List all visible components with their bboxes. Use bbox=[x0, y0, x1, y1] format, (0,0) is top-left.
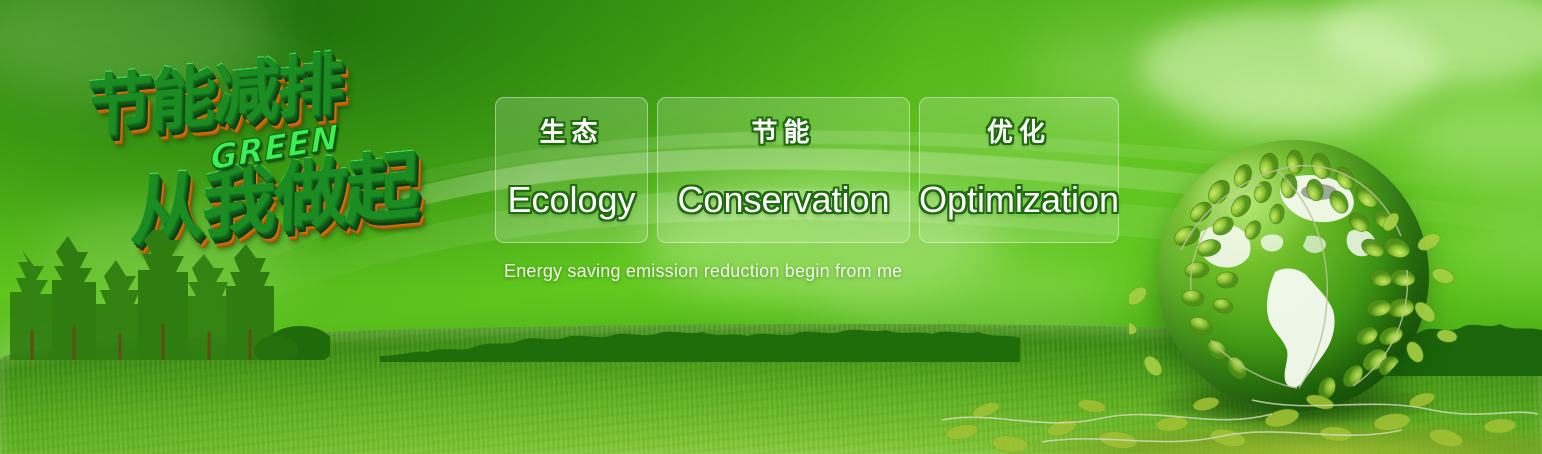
leaf-litter-detail-icon bbox=[922, 370, 1542, 454]
feature-card-conservation[interactable]: 节能 Conservation bbox=[657, 97, 910, 243]
pine-tree-icon bbox=[0, 230, 330, 360]
card-title-en: Optimization bbox=[919, 179, 1119, 221]
feature-card-optimization[interactable]: 优化 Optimization bbox=[919, 97, 1119, 243]
green-energy-banner: 节能减排 从我做起 GREEN 生态 Ecology 节能 Conservati… bbox=[0, 0, 1542, 454]
feature-card-group: 生态 Ecology 节能 Conservation 优化 Optimizati… bbox=[495, 97, 1119, 243]
card-title-cn: 节能 bbox=[751, 112, 815, 149]
distant-treeline-icon bbox=[380, 322, 1020, 362]
card-title-en: Conservation bbox=[677, 179, 889, 221]
banner-tagline: Energy saving emission reduction begin f… bbox=[504, 261, 902, 282]
card-title-en: Ecology bbox=[507, 179, 635, 221]
card-title-cn: 生态 bbox=[539, 112, 603, 149]
feature-card-ecology[interactable]: 生态 Ecology bbox=[495, 97, 648, 243]
card-title-cn: 优化 bbox=[987, 112, 1051, 149]
